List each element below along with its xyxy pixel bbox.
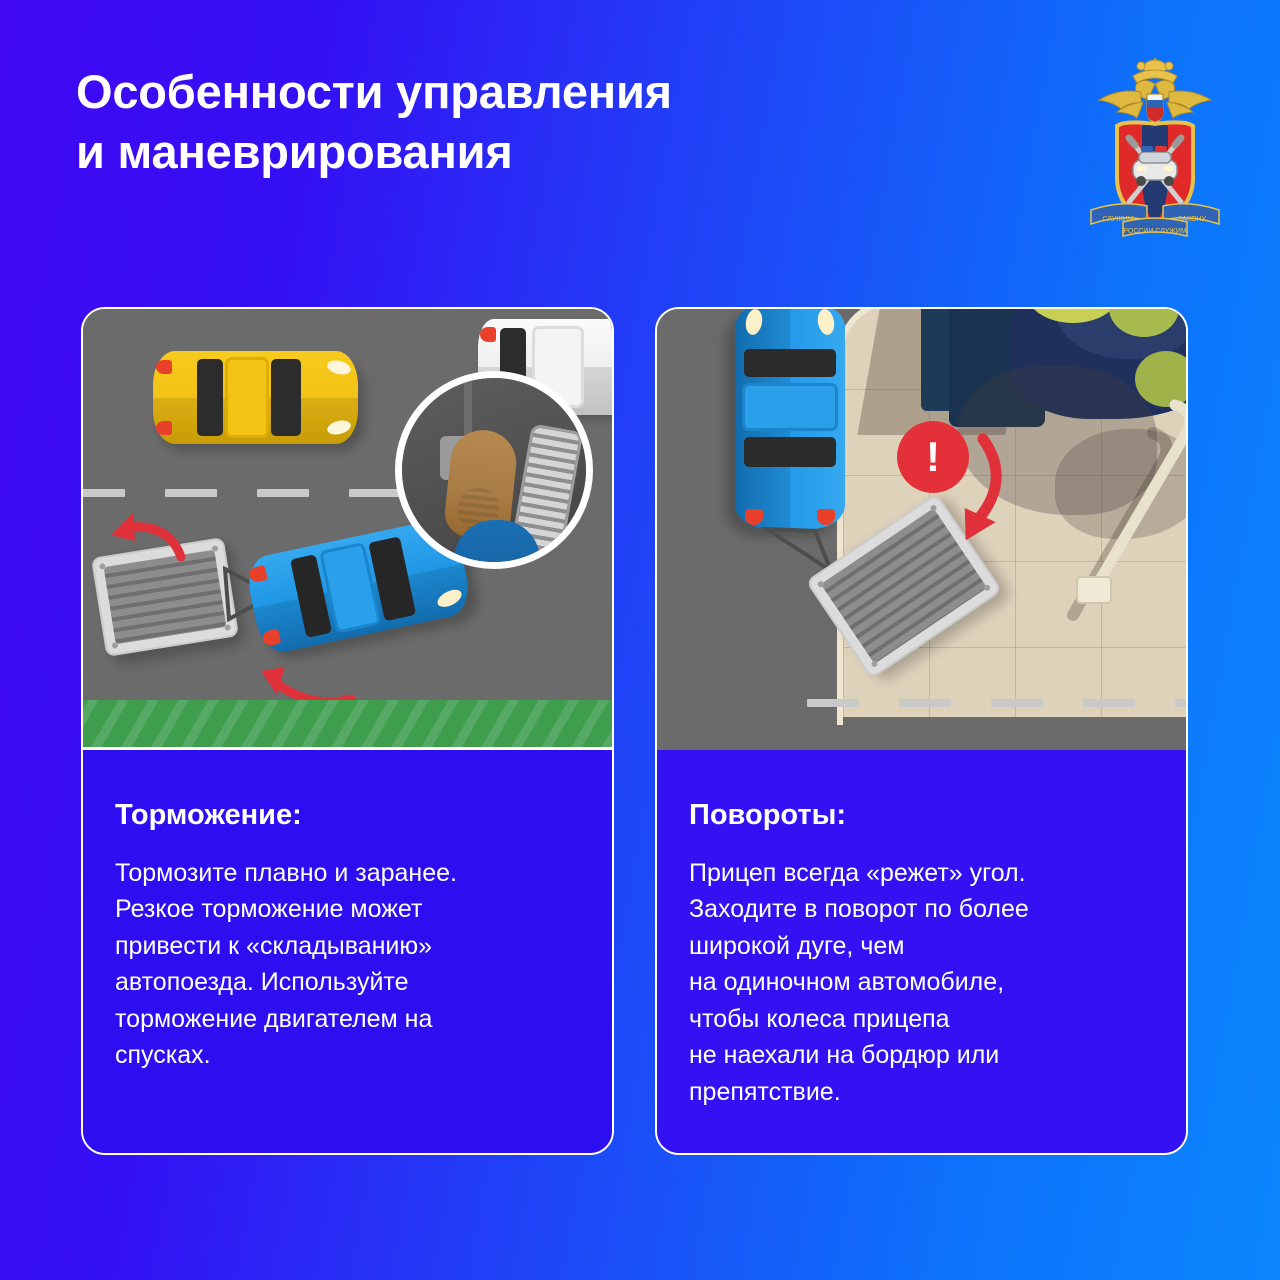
page-title-line1: Особенности управления bbox=[76, 65, 672, 118]
page-title-line2: и маневрирования bbox=[76, 122, 836, 182]
lamp-post-icon bbox=[1055, 399, 1186, 629]
turns-heading: Повороты: bbox=[689, 798, 1154, 833]
page-title: Особенности управления и маневрирования bbox=[76, 62, 836, 182]
braking-text-panel: Торможение: Тормозите плавно и заранее. … bbox=[83, 750, 612, 1153]
rotation-arrow-trailer-icon bbox=[105, 509, 195, 567]
lane-marking-row bbox=[807, 699, 1186, 707]
card-turns: ! Повороты: Прицеп всегда «режет» угол. … bbox=[655, 307, 1188, 1155]
braking-text: Тормозите плавно и заранее. Резкое тормо… bbox=[115, 855, 580, 1074]
grass-verge bbox=[83, 700, 612, 750]
brake-pedal-inset bbox=[395, 371, 593, 569]
mvd-gibdd-emblem-icon: СЛУЖИМ ЗАКОНУ РОССИИ СЛУЖИМ bbox=[1085, 52, 1225, 237]
turns-illustration: ! bbox=[657, 309, 1186, 750]
corner-cut-arrow-icon bbox=[895, 427, 1015, 557]
turns-text-panel: Повороты: Прицеп всегда «режет» угол. За… bbox=[657, 750, 1186, 1153]
header: Особенности управления и маневрирования bbox=[0, 0, 1280, 300]
emblem-ribbon-left: СЛУЖИМ bbox=[1102, 216, 1133, 223]
emblem-ribbon-right: ЗАКОНУ bbox=[1178, 216, 1206, 223]
card-braking: Торможение: Тормозите плавно и заранее. … bbox=[81, 307, 614, 1155]
blue-car bbox=[735, 309, 845, 529]
turns-text: Прицеп всегда «режет» угол. Заходите в п… bbox=[689, 855, 1154, 1111]
emblem-ribbon-center: РОССИИ СЛУЖИМ bbox=[1123, 228, 1186, 235]
braking-heading: Торможение: bbox=[115, 798, 580, 833]
yellow-car bbox=[153, 351, 358, 444]
braking-illustration bbox=[83, 309, 612, 750]
